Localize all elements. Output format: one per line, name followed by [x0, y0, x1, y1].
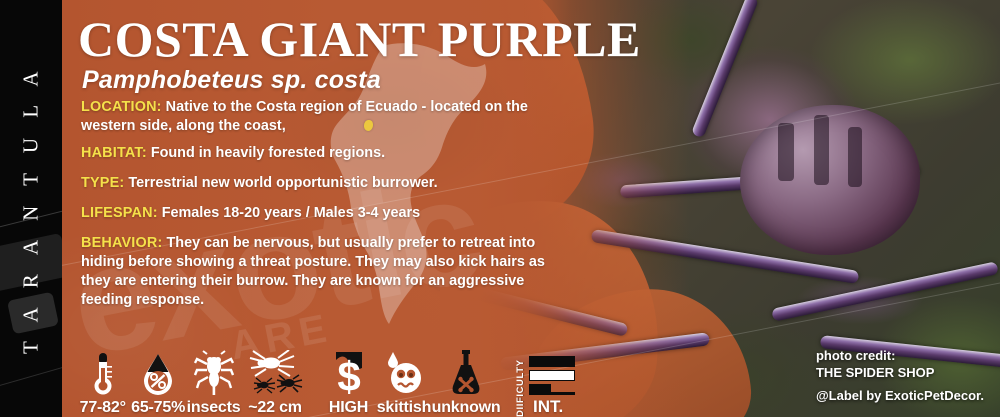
difficulty-bar: [529, 370, 575, 381]
dollar-sign-icon: $: [332, 350, 366, 396]
attribute-price: $ HIGH: [321, 350, 376, 417]
cricket-insect-icon: [194, 350, 234, 396]
credit-line-1: photo credit:: [816, 348, 984, 365]
nervous-face-icon: [384, 350, 424, 396]
fact-lifespan: LIFESPAN: Females 18-20 years / Males 3-…: [81, 204, 551, 223]
svg-text:$: $: [337, 353, 360, 396]
size-label: ~22 cm: [248, 399, 302, 417]
fact-habitat: HABITAT: Found in heavily forested regio…: [81, 144, 551, 163]
fact-value: Terrestrial new world opportunistic burr…: [128, 175, 437, 191]
fact-key: HABITAT:: [81, 145, 147, 161]
attribute-temperature: 77-82°: [75, 350, 130, 417]
fact-key: LOCATION:: [81, 99, 162, 115]
photo-credit: photo credit: THE SPIDER SHOP @Label by …: [816, 348, 984, 405]
fact-behavior: BEHAVIOR: They can be nervous, but usual…: [81, 234, 551, 311]
diet-label: insects: [187, 399, 241, 417]
fact-list: LOCATION: Native to the Costa region of …: [81, 98, 551, 319]
attribute-size: ~22 cm: [241, 350, 309, 417]
difficulty-bar: [529, 356, 575, 367]
attribute-diet: insects: [186, 350, 241, 417]
credit-line-3: @Label by ExoticPetDecor.: [816, 388, 984, 405]
difficulty-meter: DIIFICULTY INT.: [516, 356, 575, 417]
attribute-temperament: skittish: [376, 350, 431, 417]
venom-label: unknown: [432, 399, 501, 417]
difficulty-value: INT.: [533, 397, 563, 417]
difficulty-bar: [529, 384, 551, 395]
temperature-label: 77-82°: [80, 399, 126, 417]
fact-key: BEHAVIOR:: [81, 235, 162, 251]
fact-value: Found in heavily forested regions.: [151, 145, 385, 161]
attribute-venom: unknown: [432, 350, 501, 417]
difficulty-label: DIIFICULTY: [516, 371, 526, 417]
attribute-icon-row: 77-82° 65-75%: [75, 334, 575, 417]
spine-label: T A R A N T U L A: [19, 63, 44, 353]
thermometer-icon: [90, 350, 116, 396]
fact-key: LIFESPAN:: [81, 205, 158, 221]
spider-abdomen: [740, 105, 920, 255]
fact-key: TYPE:: [81, 175, 124, 191]
spider-size-icon: [247, 350, 303, 396]
venom-flask-icon: [448, 350, 484, 396]
price-label: HIGH: [329, 399, 368, 417]
scientific-name: Pamphobeteus sp. costa: [82, 66, 381, 95]
left-spine: T A R A N T U L A: [0, 0, 62, 417]
temperament-label: skittish: [377, 399, 431, 417]
fact-type: TYPE: Terrestrial new world opportunisti…: [81, 174, 551, 193]
humidity-label: 65-75%: [131, 399, 185, 417]
spine-line: [0, 357, 62, 388]
credit-line-2: THE SPIDER SHOP: [816, 365, 984, 382]
species-label-card: exotic ARE T A R A N T U L A COSTA GIANT…: [0, 0, 1000, 417]
page-title: COSTA GIANT PURPLE: [78, 14, 641, 64]
fact-value: Females 18-20 years / Males 3-4 years: [162, 205, 420, 221]
humidity-droplet-icon: [141, 350, 175, 396]
difficulty-bars: [529, 356, 575, 395]
attribute-humidity: 65-75%: [130, 350, 185, 417]
fact-location: LOCATION: Native to the Costa region of …: [81, 98, 551, 135]
